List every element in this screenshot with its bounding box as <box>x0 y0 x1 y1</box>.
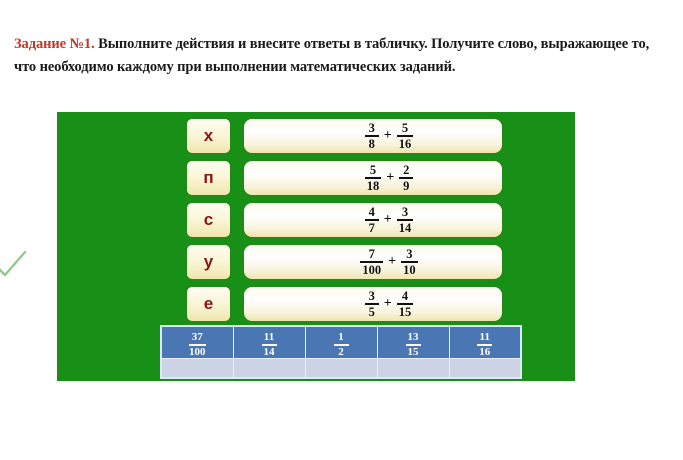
fraction-denominator: 14 <box>264 347 275 358</box>
fraction: 29 <box>399 164 413 193</box>
page-title: Задание №1. Выполните действия и внесите… <box>14 33 664 79</box>
fraction: 314 <box>397 206 414 235</box>
equation-row: у7100+310 <box>185 244 504 280</box>
fraction-numerator: 37 <box>192 332 203 343</box>
fraction-numerator: 5 <box>400 122 410 136</box>
fraction: 1116 <box>477 332 492 358</box>
fraction-numerator: 13 <box>408 332 419 343</box>
equation-row: п518+29 <box>185 160 504 196</box>
fraction-denominator: 7 <box>367 221 377 235</box>
answer-cell-input[interactable] <box>305 359 377 379</box>
fraction-numerator: 7 <box>367 248 377 262</box>
table-row-blank[interactable] <box>161 359 521 379</box>
fraction: 516 <box>397 122 414 151</box>
answer-cell-input[interactable] <box>377 359 449 379</box>
answer-cell-value: 1315 <box>377 326 449 359</box>
letter-chip-х[interactable]: х <box>185 117 232 155</box>
answer-cell-value: 1114 <box>233 326 305 359</box>
fraction: 35 <box>365 290 379 319</box>
fraction-denominator: 2 <box>338 347 344 358</box>
fraction-numerator: 5 <box>368 164 378 178</box>
fraction: 38 <box>365 122 379 151</box>
operator-plus: + <box>381 170 399 186</box>
fraction: 518 <box>365 164 382 193</box>
answer-cell-value: 37100 <box>161 326 233 359</box>
fraction-numerator: 11 <box>480 332 490 343</box>
expression-bar[interactable]: 38+516 <box>242 117 504 155</box>
fraction-numerator: 4 <box>400 290 410 304</box>
fraction-denominator: 100 <box>360 263 383 277</box>
answer-cell-input[interactable] <box>233 359 305 379</box>
fraction-denominator: 15 <box>397 305 414 319</box>
fraction-denominator: 16 <box>397 137 414 151</box>
fraction-denominator: 5 <box>367 305 377 319</box>
task-description: Выполните действия и внесите ответы в та… <box>14 36 649 75</box>
fraction-denominator: 100 <box>189 347 206 358</box>
answer-cell-value: 12 <box>305 326 377 359</box>
fraction: 12 <box>334 332 349 358</box>
fraction-numerator: 3 <box>367 122 377 136</box>
expression-bar[interactable]: 35+415 <box>242 285 504 323</box>
expression-bar[interactable]: 7100+310 <box>242 243 504 281</box>
expression: 38+516 <box>365 122 413 151</box>
fraction: 310 <box>401 248 418 277</box>
letter-chip-у[interactable]: у <box>185 243 232 281</box>
answer-cell-value: 1116 <box>449 326 521 359</box>
fraction-denominator: 18 <box>365 179 382 193</box>
fraction: 47 <box>365 206 379 235</box>
equation-rows-list: х38+516п518+29с47+314у7100+310е35+415 <box>185 118 504 328</box>
equation-row: х38+516 <box>185 118 504 154</box>
fraction-numerator: 4 <box>367 206 377 220</box>
expression: 518+29 <box>365 164 413 193</box>
fraction: 7100 <box>360 248 383 277</box>
fraction: 415 <box>397 290 414 319</box>
answer-cell-input[interactable] <box>161 359 233 379</box>
equation-row: с47+314 <box>185 202 504 238</box>
operator-plus: + <box>379 296 397 312</box>
fraction-denominator: 15 <box>408 347 419 358</box>
operator-plus: + <box>383 254 401 270</box>
fraction-numerator: 3 <box>400 206 410 220</box>
equation-row: е35+415 <box>185 286 504 322</box>
letter-chip-п[interactable]: п <box>185 159 232 197</box>
fraction-numerator: 3 <box>367 290 377 304</box>
fraction-numerator: 3 <box>404 248 414 262</box>
letter-chip-с[interactable]: с <box>185 201 232 239</box>
answer-table: 3710011141213151116 <box>160 325 522 379</box>
letter-chip-е[interactable]: е <box>185 285 232 323</box>
operator-plus: + <box>379 128 397 144</box>
expression: 47+314 <box>365 206 413 235</box>
check-mark-icon <box>0 248 28 282</box>
fraction-numerator: 1 <box>338 332 344 343</box>
fraction: 1114 <box>262 332 277 358</box>
fraction-denominator: 9 <box>401 179 411 193</box>
expression-bar[interactable]: 518+29 <box>242 159 504 197</box>
fraction: 37100 <box>189 332 206 358</box>
fraction-numerator: 11 <box>264 332 274 343</box>
operator-plus: + <box>379 212 397 228</box>
fraction-denominator: 16 <box>479 347 490 358</box>
table-row-values: 3710011141213151116 <box>161 326 521 359</box>
expression: 35+415 <box>365 290 413 319</box>
task-number-label: Задание №1. <box>14 36 95 52</box>
fraction-denominator: 10 <box>401 263 418 277</box>
fraction-numerator: 2 <box>401 164 411 178</box>
fraction: 1315 <box>406 332 421 358</box>
fraction-denominator: 8 <box>367 137 377 151</box>
fraction-denominator: 14 <box>397 221 414 235</box>
expression-bar[interactable]: 47+314 <box>242 201 504 239</box>
expression: 7100+310 <box>360 248 417 277</box>
answer-cell-input[interactable] <box>449 359 521 379</box>
